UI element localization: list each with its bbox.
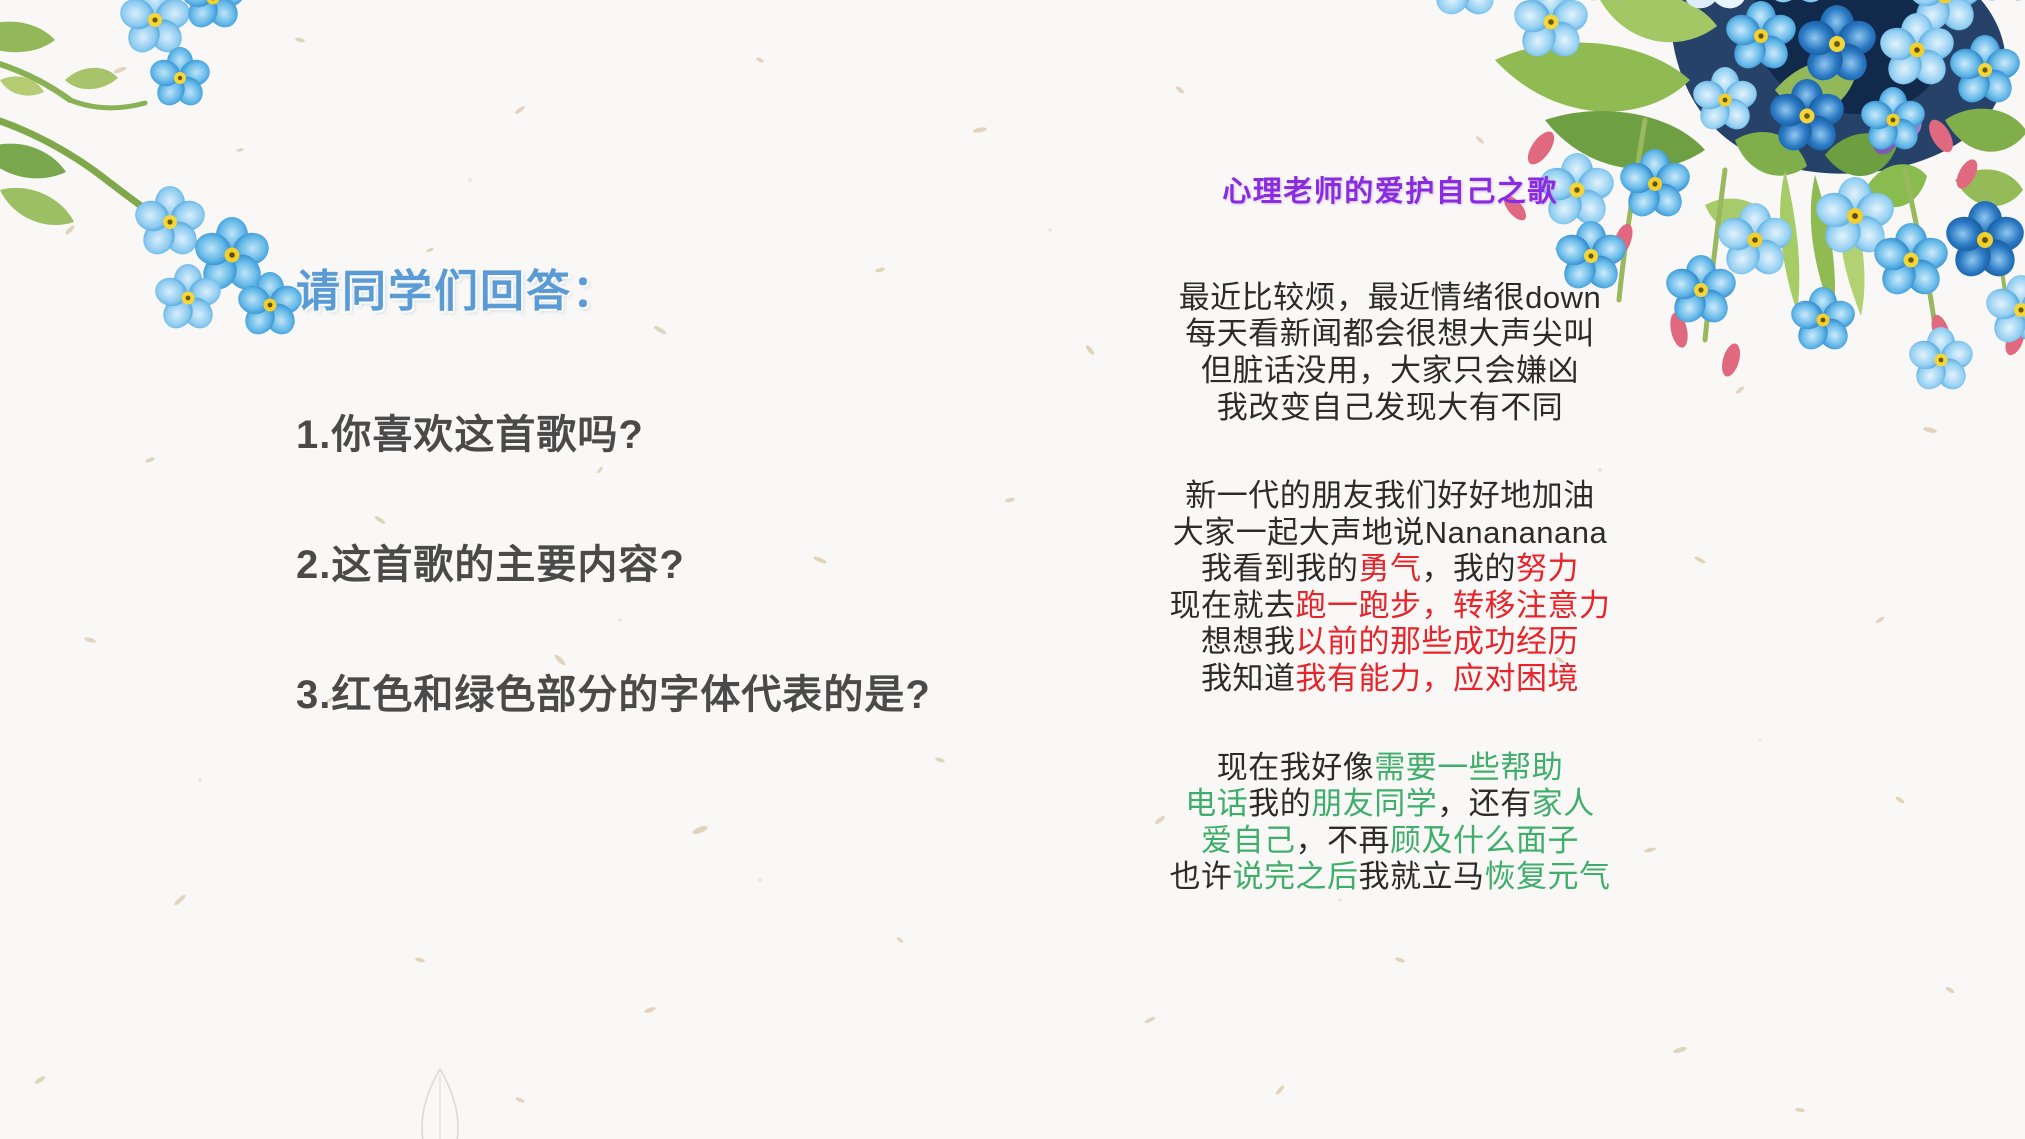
forget-me-not-flowers-icon: [0, 0, 330, 360]
lyric-segment-default: ，不再: [1296, 823, 1391, 858]
question-item-1: 1.你喜欢这首歌吗?: [296, 412, 1056, 458]
question-item-3: 3.红色和绿色部分的字体代表的是?: [296, 672, 1056, 718]
lyric-line: 电话我的朋友同学，还有家人: [1130, 786, 1650, 823]
lyric-segment-red: 以前的那些成功经历: [1296, 624, 1580, 659]
lyric-segment-green: 恢复元气: [1485, 859, 1611, 894]
lyric-segment-default: ，我的: [1422, 551, 1517, 586]
lyric-line: 每天看新闻都会很想大声尖叫: [1130, 316, 1650, 353]
lyric-segment-default: 最近比较烦，最近情绪很down: [1179, 280, 1602, 315]
lyric-segment-default: 现在就去: [1170, 588, 1296, 623]
lyric-segment-green: 爱自己: [1201, 823, 1296, 858]
lyric-line: 现在我好像需要一些帮助: [1130, 750, 1650, 787]
lyric-line: 新一代的朋友我们好好地加油: [1130, 478, 1650, 515]
lyric-segment-green: 说完之后: [1233, 859, 1359, 894]
lyrics-panel: 心理老师的爱护自己之歌 最近比较烦，最近情绪很down每天看新闻都会很想大声尖叫…: [1130, 175, 1650, 896]
lyric-segment-green: 顾及什么面子: [1390, 823, 1579, 858]
lyric-segment-default: 也许: [1170, 859, 1233, 894]
lyric-segment-green: 家人: [1532, 786, 1595, 821]
lyric-segment-default: ，还有: [1437, 786, 1532, 821]
lyric-segment-default: 大家一起大声地说Nanananana: [1173, 515, 1608, 550]
lyrics-stanza: 最近比较烦，最近情绪很down每天看新闻都会很想大声尖叫但脏话没用，大家只会嫌凶…: [1130, 280, 1650, 426]
lyrics-title: 心理老师的爱护自己之歌: [1130, 175, 1650, 210]
lyric-line: 最近比较烦，最近情绪很down: [1130, 280, 1650, 317]
lyric-line: 我改变自己发现大有不同: [1130, 390, 1650, 427]
lyric-line: 也许说完之后我就立马恢复元气: [1130, 859, 1650, 896]
lyric-segment-default: 我就立马: [1359, 859, 1485, 894]
lyric-line: 爱自己，不再顾及什么面子: [1130, 823, 1650, 860]
lyrics-stanza: 新一代的朋友我们好好地加油大家一起大声地说Nanananana我看到我的勇气，我…: [1130, 478, 1650, 697]
lyric-line: 想想我以前的那些成功经历: [1130, 624, 1650, 661]
lyric-segment-default: 但脏话没用，大家只会嫌凶: [1201, 353, 1579, 388]
lyric-segment-default: 新一代的朋友我们好好地加油: [1185, 478, 1595, 513]
lyric-line: 我知道我有能力，应对困境: [1130, 661, 1650, 698]
lyric-segment-default: 我知道: [1201, 661, 1296, 696]
questions-panel: 请同学们回答： 1.你喜欢这首歌吗? 2.这首歌的主要内容? 3.红色和绿色部分…: [296, 268, 1056, 718]
lyric-segment-default: 每天看新闻都会很想大声尖叫: [1185, 316, 1595, 351]
lyric-segment-green: 电话: [1185, 786, 1248, 821]
faint-leaf-outline-icon: [395, 1065, 485, 1139]
slide-canvas: 请同学们回答： 1.你喜欢这首歌吗? 2.这首歌的主要内容? 3.红色和绿色部分…: [0, 0, 2025, 1139]
lyric-segment-green: 朋友同学: [1311, 786, 1437, 821]
lyrics-body: 最近比较烦，最近情绪很down每天看新闻都会很想大声尖叫但脏话没用，大家只会嫌凶…: [1130, 280, 1650, 896]
page-title: 请同学们回答：: [296, 268, 1056, 316]
lyric-line: 大家一起大声地说Nanananana: [1130, 515, 1650, 552]
lyric-segment-red: 努力: [1516, 551, 1579, 586]
lyric-line: 但脏话没用，大家只会嫌凶: [1130, 353, 1650, 390]
lyric-segment-default: 我改变自己发现大有不同: [1217, 390, 1564, 425]
lyric-segment-default: 现在我好像: [1217, 750, 1375, 785]
lyric-segment-red: 勇气: [1359, 551, 1422, 586]
question-item-2: 2.这首歌的主要内容?: [296, 542, 1056, 588]
lyric-segment-default: 想想我: [1201, 624, 1296, 659]
lyric-segment-green: 需要一些帮助: [1374, 750, 1563, 785]
lyric-segment-default: 我的: [1248, 786, 1311, 821]
lyric-segment-default: 我看到我的: [1201, 551, 1359, 586]
lyric-segment-red: 跑一跑步，转移注意力: [1296, 588, 1611, 623]
lyric-line: 我看到我的勇气，我的努力: [1130, 551, 1650, 588]
lyric-segment-red: 我有能力，应对困境: [1296, 661, 1580, 696]
lyric-line: 现在就去跑一跑步，转移注意力: [1130, 588, 1650, 625]
lyrics-stanza: 现在我好像需要一些帮助电话我的朋友同学，还有家人爱自己，不再顾及什么面子也许说完…: [1130, 750, 1650, 896]
